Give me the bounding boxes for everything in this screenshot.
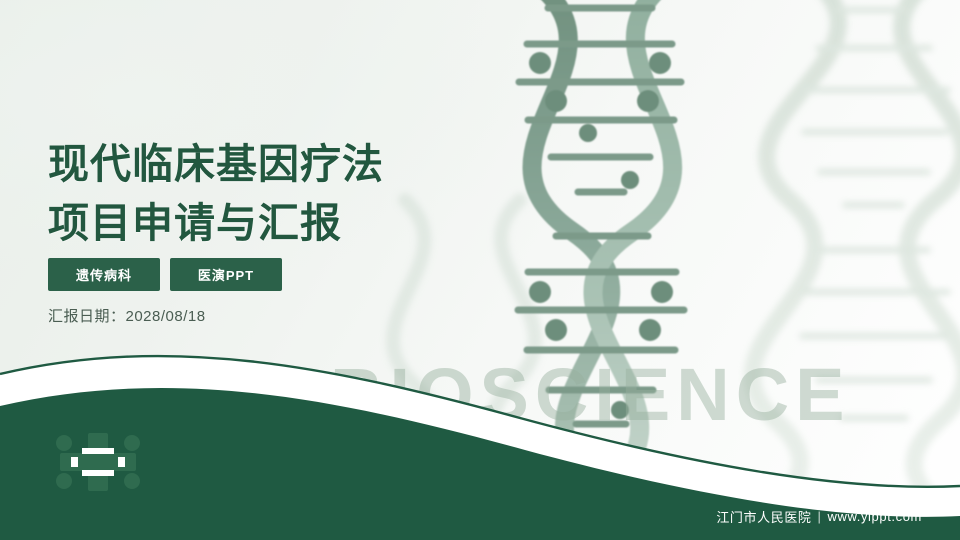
title-line-2: 项目申请与汇报 [48, 194, 384, 252]
footer: 江门市人民医院 | www.yippt.com [716, 507, 922, 526]
footer-separator: | [818, 509, 822, 524]
footer-site: www.yippt.com [828, 509, 923, 524]
tag-group: 遗传病科 医演PPT [48, 258, 282, 291]
report-date: 汇报日期：2028/08/18 [48, 305, 206, 326]
footer-org: 江门市人民医院 [716, 507, 811, 526]
tag-department: 遗传病科 [48, 258, 160, 291]
hospital-logo-icon [52, 429, 144, 495]
page-title: 现代临床基因疗法 项目申请与汇报 [48, 135, 384, 251]
presentation-slide: BIOSCIENCE 现代临床基因疗法 项目申请与汇报 遗传病科 医演PPT 汇… [0, 0, 960, 540]
title-line-1: 现代临床基因疗法 [48, 141, 384, 187]
tag-template: 医演PPT [170, 258, 282, 291]
